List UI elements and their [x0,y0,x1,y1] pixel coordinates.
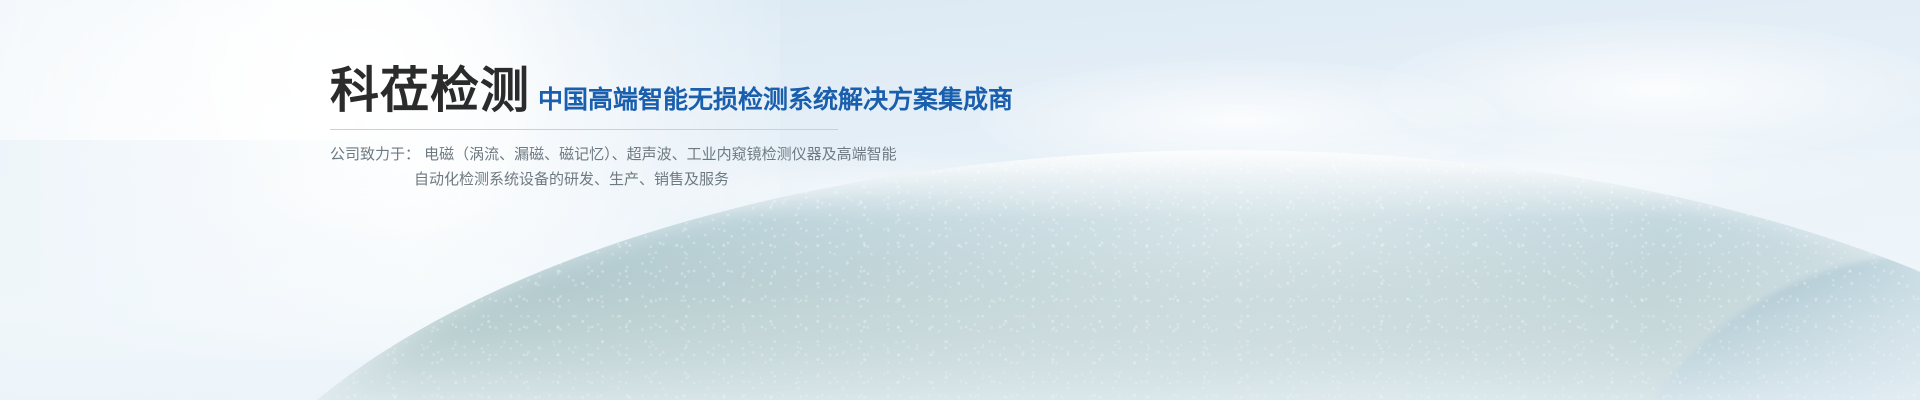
brand-title: 科莅检测 [330,67,530,116]
title-divider [330,129,838,130]
brand-tagline: 中国高端智能无损检测系统解决方案集成商 [538,88,1013,116]
hero-banner: 科莅检测 中国高端智能无损检测系统解决方案集成商 公司致力于： 电磁（涡流、漏磁… [0,0,1920,400]
description-line-1: 公司致力于： 电磁（涡流、漏磁、磁记忆）、超声波、工业内窥镜检测仪器及高端智能 [330,142,1013,167]
banner-text-block: 科莅检测 中国高端智能无损检测系统解决方案集成商 公司致力于： 电磁（涡流、漏磁… [330,60,1013,192]
description-line-2: 自动化检测系统设备的研发、生产、销售及服务 [330,167,1013,192]
title-row: 科莅检测 中国高端智能无损检测系统解决方案集成商 [330,60,1013,116]
company-description: 公司致力于： 电磁（涡流、漏磁、磁记忆）、超声波、工业内窥镜检测仪器及高端智能 … [330,142,1013,192]
